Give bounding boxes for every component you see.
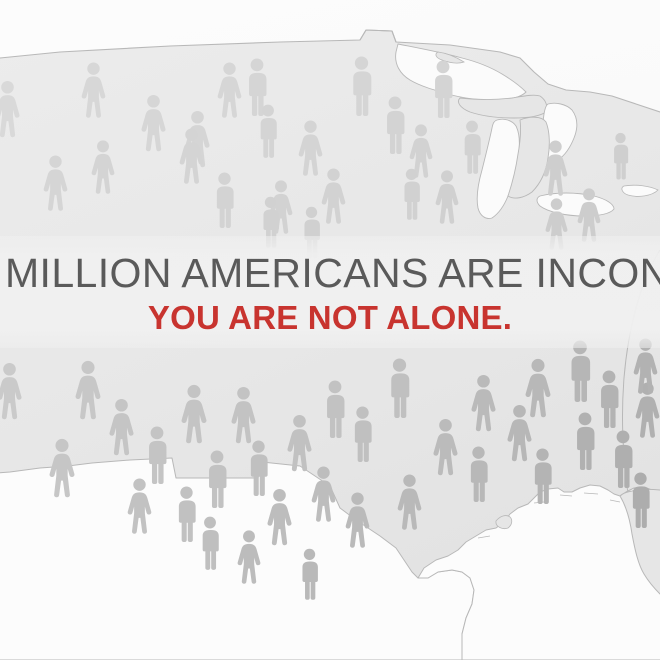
person-female-icon <box>320 168 347 224</box>
person-male-icon <box>322 380 348 438</box>
person-female-icon <box>42 155 69 211</box>
person-male-icon <box>566 340 594 402</box>
person-male-icon <box>382 96 408 154</box>
person-male-icon <box>386 358 413 418</box>
person-female-icon <box>470 374 497 432</box>
person-male-icon <box>610 132 631 180</box>
person-female-icon <box>344 492 371 548</box>
person-female-icon <box>236 530 262 584</box>
person-male-icon <box>460 120 484 174</box>
person-male-icon <box>530 448 555 504</box>
person-female-icon <box>396 474 423 530</box>
headline-secondary-you-are-not-alone: YOU ARE NOT ALONE. <box>0 299 660 337</box>
person-male-icon <box>466 446 491 502</box>
person-female-icon <box>48 438 76 498</box>
person-female-icon <box>310 466 337 522</box>
person-female-icon <box>180 384 208 444</box>
person-female-icon <box>126 478 153 534</box>
person-female-icon <box>74 360 102 420</box>
person-female-icon <box>90 140 116 194</box>
person-female-icon <box>216 62 243 118</box>
person-female-icon <box>286 414 313 472</box>
person-female-icon <box>266 488 293 546</box>
person-female-icon <box>434 170 460 224</box>
person-male-icon <box>348 56 375 116</box>
person-male-icon <box>198 516 222 570</box>
person-male-icon <box>430 60 456 118</box>
person-female-icon <box>140 94 167 152</box>
person-male-icon <box>174 486 199 542</box>
infographic-canvas: MILLION AMERICANS ARE INCONTINENT. YOU A… <box>0 0 660 660</box>
person-male-icon <box>596 370 622 428</box>
person-female-icon <box>178 128 205 184</box>
person-female-icon <box>0 80 21 138</box>
person-male-icon <box>144 426 170 484</box>
person-female-icon <box>230 386 257 444</box>
person-male-icon <box>628 472 653 528</box>
person-female-icon <box>542 140 569 196</box>
person-male-icon <box>204 450 230 508</box>
person-female-icon <box>108 398 135 456</box>
person-female-icon <box>576 188 602 242</box>
person-female-icon <box>432 418 459 476</box>
headline-primary: MILLION AMERICANS ARE INCONTINENT. <box>5 251 660 295</box>
person-male-icon <box>350 406 375 462</box>
person-female-icon <box>524 358 552 418</box>
person-female-icon <box>80 62 107 118</box>
person-male-icon <box>572 412 598 470</box>
person-male-icon <box>212 172 237 228</box>
person-male-icon <box>298 548 321 600</box>
person-female-icon <box>0 362 23 420</box>
person-male-icon <box>400 168 423 220</box>
person-male-icon <box>256 104 280 158</box>
